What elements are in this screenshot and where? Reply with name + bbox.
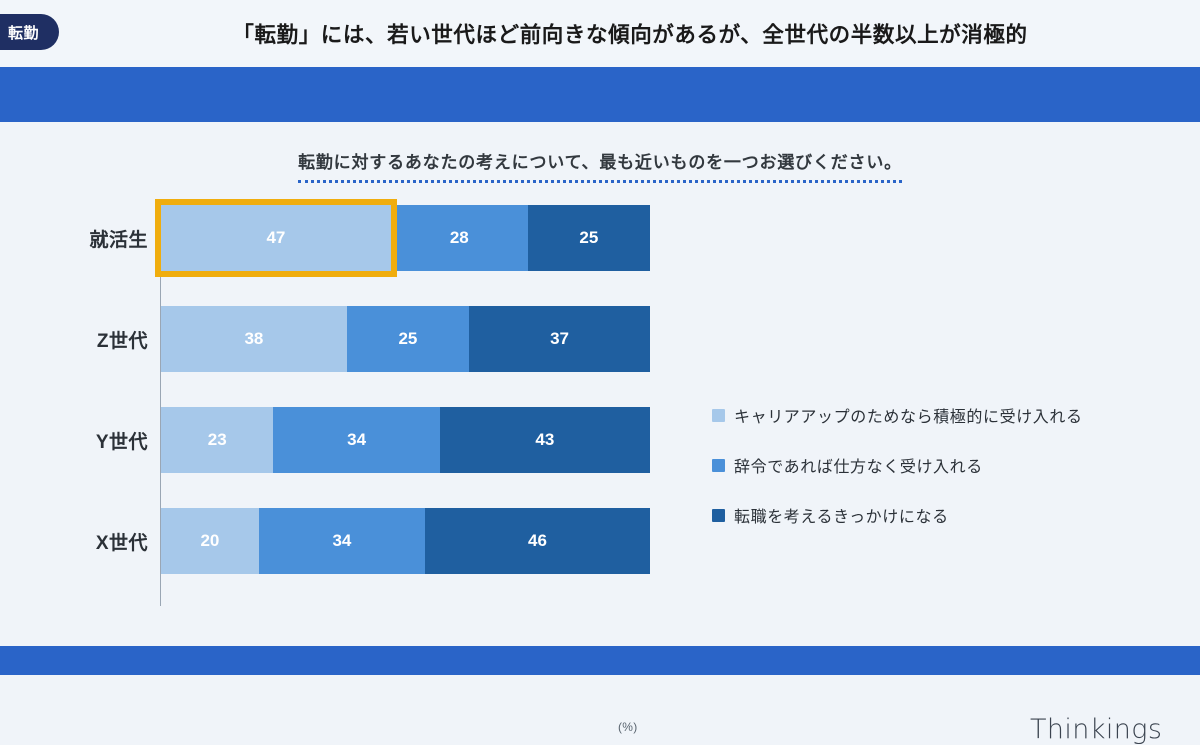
legend-label: 辞令であれば仕方なく受け入れる bbox=[734, 453, 983, 477]
page-title: 「転勤」には、若い世代ほど前向きな傾向があるが、全世代の半数以上が消極的 bbox=[0, 0, 1200, 67]
accent-bar-bottom bbox=[0, 646, 1200, 675]
stacked-bar: 203446 bbox=[161, 508, 650, 574]
bar-segment: 20 bbox=[161, 508, 259, 574]
bar-value-label: 34 bbox=[332, 531, 351, 551]
accent-bar-top bbox=[0, 67, 1200, 122]
brand-logo: Thinkings bbox=[1030, 714, 1162, 745]
bar-value-label: 38 bbox=[244, 329, 263, 349]
bar-segment: 23 bbox=[161, 407, 273, 473]
bar-value-label: 28 bbox=[450, 228, 469, 248]
stacked-bar-chart: (%) 就活生472825Z世代382537Y世代233443X世代203446 bbox=[0, 122, 1200, 646]
bar-segment: 37 bbox=[469, 306, 650, 372]
category-label: Z世代 bbox=[0, 306, 148, 372]
chart-legend: キャリアアップのためなら積極的に受け入れる辞令であれば仕方なく受け入れる転職を考… bbox=[712, 390, 1182, 540]
bar-value-label: 25 bbox=[398, 329, 417, 349]
bar-segment: 25 bbox=[347, 306, 469, 372]
bar-value-label: 47 bbox=[266, 228, 285, 248]
unit-label: (%) bbox=[618, 720, 638, 734]
bar-segment: 34 bbox=[259, 508, 425, 574]
stacked-bar: 382537 bbox=[161, 306, 650, 372]
category-label: 就活生 bbox=[0, 205, 148, 271]
legend-item: キャリアアップのためなら積極的に受け入れる bbox=[712, 390, 1182, 440]
bar-segment: 38 bbox=[161, 306, 347, 372]
stacked-bar: 233443 bbox=[161, 407, 650, 473]
category-label: X世代 bbox=[0, 508, 148, 574]
legend-swatch-icon bbox=[712, 509, 725, 522]
legend-swatch-icon bbox=[712, 459, 725, 472]
bar-segment: 46 bbox=[425, 508, 650, 574]
bar-segment: 43 bbox=[440, 407, 650, 473]
bar-value-label: 20 bbox=[200, 531, 219, 551]
slide-body: 転勤に対するあなたの考えについて、最も近いものを一つお選びください。 (%) 就… bbox=[0, 122, 1200, 646]
bar-value-label: 25 bbox=[579, 228, 598, 248]
header: 転勤 「転勤」には、若い世代ほど前向きな傾向があるが、全世代の半数以上が消極的 bbox=[0, 0, 1200, 67]
slide: 転勤 「転勤」には、若い世代ほど前向きな傾向があるが、全世代の半数以上が消極的 … bbox=[0, 0, 1200, 675]
bar-segment: 25 bbox=[528, 205, 650, 271]
legend-item: 辞令であれば仕方なく受け入れる bbox=[712, 440, 1182, 490]
bar-segment: 28 bbox=[391, 205, 528, 271]
bar-value-label: 43 bbox=[535, 430, 554, 450]
legend-label: 転職を考えるきっかけになる bbox=[734, 503, 949, 527]
bar-value-label: 46 bbox=[528, 531, 547, 551]
legend-item: 転職を考えるきっかけになる bbox=[712, 490, 1182, 540]
bar-value-label: 34 bbox=[347, 430, 366, 450]
legend-swatch-icon bbox=[712, 409, 725, 422]
legend-label: キャリアアップのためなら積極的に受け入れる bbox=[734, 403, 1083, 427]
stacked-bar: 472825 bbox=[161, 205, 650, 271]
bar-value-label: 37 bbox=[550, 329, 569, 349]
category-label: Y世代 bbox=[0, 407, 148, 473]
bar-value-label: 23 bbox=[208, 430, 227, 450]
bar-segment: 47 bbox=[161, 205, 391, 271]
bar-segment: 34 bbox=[273, 407, 439, 473]
